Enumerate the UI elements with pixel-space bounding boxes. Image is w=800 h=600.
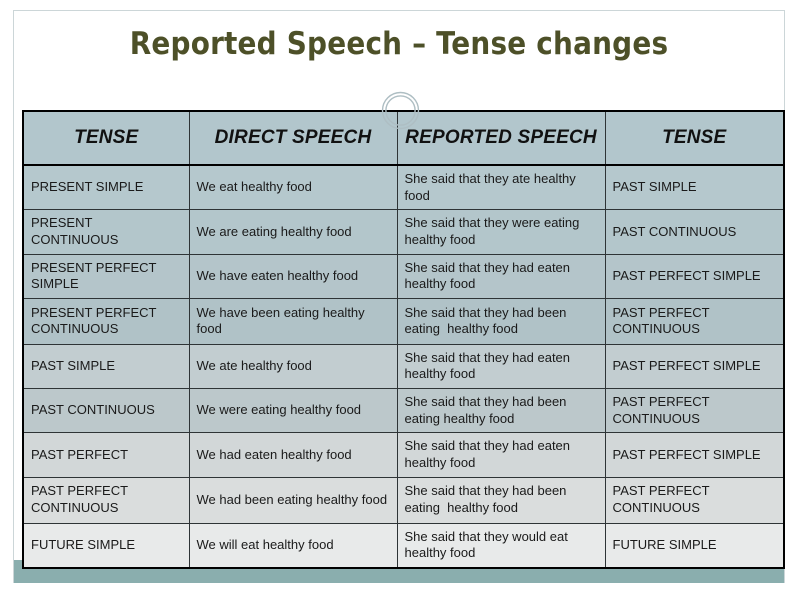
cell-reported-tense: FUTURE SIMPLE	[605, 523, 784, 568]
column-header-direct-speech: DIRECT SPEECH	[189, 111, 397, 165]
cell-direct-speech: We had been eating healthy food	[189, 477, 397, 523]
column-header-tense-direct: TENSE	[23, 111, 189, 165]
cell-reported-tense: PAST PERFECT CONTINUOUS	[605, 298, 784, 344]
table-row: PAST PERFECT CONTINUOUS We had been eati…	[23, 477, 784, 523]
cell-tense: PRESENT PERFECT SIMPLE	[23, 254, 189, 298]
cell-reported-tense: PAST PERFECT SIMPLE	[605, 344, 784, 388]
cell-reported-speech: She said that they had eaten healthy foo…	[397, 433, 605, 477]
cell-reported-tense: PAST SIMPLE	[605, 165, 784, 210]
table-row: PRESENT PERFECT SIMPLE We have eaten hea…	[23, 254, 784, 298]
cell-reported-tense: PAST CONTINUOUS	[605, 210, 784, 254]
column-header-tense-reported: TENSE	[605, 111, 784, 165]
table-row: FUTURE SIMPLE We will eat healthy food S…	[23, 523, 784, 568]
page-title: Reported Speech – Tense changes	[13, 26, 785, 62]
cell-tense: PRESENT SIMPLE	[23, 165, 189, 210]
table-row: PRESENT PERFECT CONTINUOUS We have been …	[23, 298, 784, 344]
cell-reported-tense: PAST PERFECT CONTINUOUS	[605, 477, 784, 523]
cell-tense: PAST SIMPLE	[23, 344, 189, 388]
table-row: PRESENT SIMPLE We eat healthy food She s…	[23, 165, 784, 210]
cell-tense: PAST PERFECT CONTINUOUS	[23, 477, 189, 523]
cell-reported-tense: PAST PERFECT SIMPLE	[605, 254, 784, 298]
table-row: PRESENT CONTINUOUS We are eating healthy…	[23, 210, 784, 254]
table-row: PAST CONTINUOUS We were eating healthy f…	[23, 389, 784, 433]
cell-tense: PAST PERFECT	[23, 433, 189, 477]
table-row: PAST PERFECT We had eaten healthy food S…	[23, 433, 784, 477]
cell-reported-tense: PAST PERFECT SIMPLE	[605, 433, 784, 477]
cell-tense: PRESENT CONTINUOUS	[23, 210, 189, 254]
cell-tense: PRESENT PERFECT CONTINUOUS	[23, 298, 189, 344]
cell-reported-speech: She said that they had been eating healt…	[397, 477, 605, 523]
cell-reported-speech: She said that they had been eating healt…	[397, 389, 605, 433]
table-row: PAST SIMPLE We ate healthy food She said…	[23, 344, 784, 388]
cell-direct-speech: We had eaten healthy food	[189, 433, 397, 477]
cell-direct-speech: We have eaten healthy food	[189, 254, 397, 298]
cell-direct-speech: We are eating healthy food	[189, 210, 397, 254]
table-header-row: TENSE DIRECT SPEECH REPORTED SPEECH TENS…	[23, 111, 784, 165]
cell-reported-speech: She said that they ate healthy food	[397, 165, 605, 210]
cell-reported-speech: She said that they had eaten healthy foo…	[397, 344, 605, 388]
cell-reported-speech: She said that they had eaten healthy foo…	[397, 254, 605, 298]
cell-direct-speech: We eat healthy food	[189, 165, 397, 210]
cell-tense: PAST CONTINUOUS	[23, 389, 189, 433]
cell-reported-speech: She said that they would eat healthy foo…	[397, 523, 605, 568]
slide-canvas: Reported Speech – Tense changes TENSE DI…	[0, 0, 800, 600]
cell-direct-speech: We will eat healthy food	[189, 523, 397, 568]
tense-changes-table: TENSE DIRECT SPEECH REPORTED SPEECH TENS…	[22, 110, 785, 569]
cell-reported-speech: She said that they were eating healthy f…	[397, 210, 605, 254]
cell-direct-speech: We ate healthy food	[189, 344, 397, 388]
cell-direct-speech: We have been eating healthy food	[189, 298, 397, 344]
cell-reported-speech: She said that they had been eating healt…	[397, 298, 605, 344]
cell-tense: FUTURE SIMPLE	[23, 523, 189, 568]
cell-direct-speech: We were eating healthy food	[189, 389, 397, 433]
column-header-reported-speech: REPORTED SPEECH	[397, 111, 605, 165]
cell-reported-tense: PAST PERFECT CONTINUOUS	[605, 389, 784, 433]
